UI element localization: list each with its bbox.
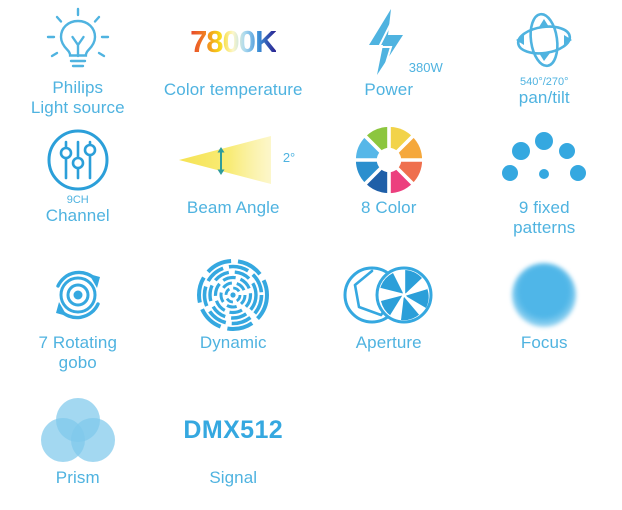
rotating-gobo-icon [41, 259, 115, 331]
feature-fixed-patterns: 9 fixed patterns [467, 118, 622, 253]
feature-grid: Philips Light source 7800K Color tempera… [0, 0, 622, 510]
feature-label: Channel [46, 206, 110, 226]
feature-label-2: gobo [59, 353, 97, 373]
feature-signal: DMX512 Signal [156, 388, 312, 510]
feature-label: 8 Color [361, 198, 417, 218]
feature-dynamic: Dynamic [156, 253, 312, 388]
empty-cell [467, 388, 622, 510]
feature-label: Prism [56, 468, 100, 488]
feature-pan-tilt: 540°/270° pan/tilt [467, 0, 622, 118]
feature-label: Dynamic [200, 333, 267, 353]
feature-power: 380W Power [311, 0, 467, 118]
feature-label: Color temperature [164, 80, 303, 100]
signal-value: DMX512 [183, 416, 283, 445]
feature-beam-angle: 2° Beam Angle [156, 118, 312, 253]
focus-blur-circle-icon [512, 259, 576, 331]
dmx-text-icon: DMX512 [183, 394, 283, 466]
feature-rotating-gobo: 7 Rotating gobo [0, 253, 156, 388]
color-temperature-text-icon: 7800K [190, 6, 276, 78]
feature-label: 7 Rotating [39, 333, 118, 353]
spec-sheet: Philips Light source 7800K Color tempera… [0, 0, 622, 510]
beam-cone-icon: 2° [175, 124, 291, 196]
lightning-bolt-icon: 380W [363, 6, 415, 78]
empty-cell [311, 388, 467, 510]
feature-label: Aperture [356, 333, 422, 353]
dot-pattern-icon [499, 124, 589, 196]
light-bulb-icon [41, 6, 115, 78]
feature-focus: Focus [467, 253, 622, 388]
feature-label: 9 fixed [519, 198, 570, 218]
feature-label-2: Light source [31, 98, 125, 118]
feature-label: Signal [209, 468, 257, 488]
feature-label-2: patterns [513, 218, 575, 238]
feature-label: pan/tilt [519, 88, 570, 108]
prism-three-circles-icon [40, 394, 116, 466]
power-value: 380W [409, 60, 443, 75]
pan-tilt-rotation-icon [506, 6, 582, 78]
feature-label: Philips [52, 78, 103, 98]
dynamic-rings-icon [196, 259, 270, 331]
feature-prism: Prism [0, 388, 156, 510]
feature-label: Power [364, 80, 413, 100]
feature-aperture: Aperture [311, 253, 467, 388]
feature-color-temperature: 7800K Color temperature [156, 0, 312, 118]
sliders-circle-icon [43, 124, 113, 196]
feature-label: Focus [521, 333, 568, 353]
feature-label: Beam Angle [187, 198, 280, 218]
aperture-iris-icon [341, 259, 437, 331]
color-temperature-value: 7800K [190, 24, 276, 60]
beam-angle-value: 2° [283, 150, 295, 165]
feature-8-color: 8 Color [311, 118, 467, 253]
feature-channel: 9CH Channel [0, 118, 156, 253]
feature-light-source: Philips Light source [0, 0, 156, 118]
color-wheel-icon [353, 124, 425, 196]
